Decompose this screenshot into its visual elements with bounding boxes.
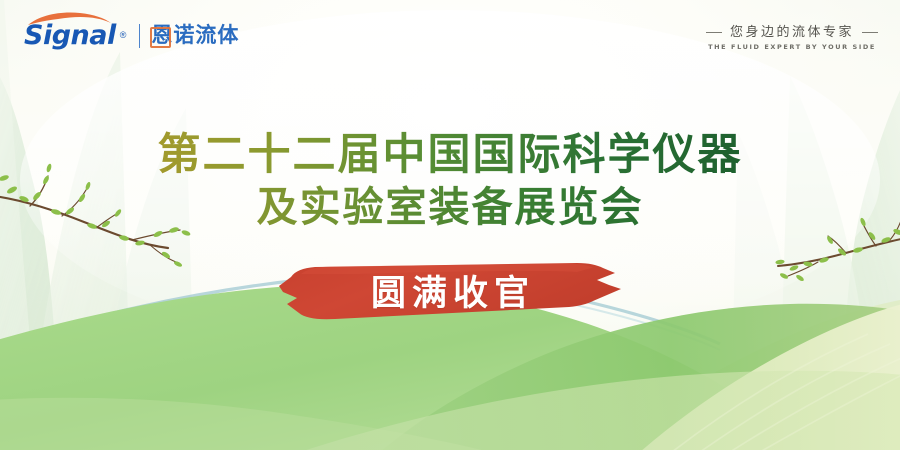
event-title: 第二十二届中国国际科学仪器 及实验室装备展览会 xyxy=(0,128,900,234)
registered-mark: ® xyxy=(120,30,127,40)
tagline-chinese: 您身边的流体专家 xyxy=(730,26,854,39)
logo-text: Signal xyxy=(24,20,116,51)
event-title-line1: 第二十二届中国国际科学仪器 xyxy=(0,128,900,182)
tagline-rule-right xyxy=(862,32,878,33)
status-ribbon: 圆满收官 xyxy=(277,258,623,326)
signal-wordmark: Signal® xyxy=(24,22,126,49)
event-title-line2: 及实验室装备展览会 xyxy=(0,182,900,234)
ribbon-label: 圆满收官 xyxy=(277,258,623,326)
logo-chinese-name: 恩诺流体 xyxy=(151,25,239,46)
banner-header: Signal® 恩诺流体 您身边的流体专家 THE FLUID EXPERT B… xyxy=(0,0,900,72)
brand-tagline: 您身边的流体专家 THE FLUID EXPERT BY YOUR SIDE xyxy=(706,26,878,51)
tagline-rule-left xyxy=(706,32,722,33)
tagline-english: THE FLUID EXPERT BY YOUR SIDE xyxy=(706,44,878,51)
logo-divider xyxy=(139,24,140,48)
brand-logo[interactable]: Signal® 恩诺流体 xyxy=(24,22,239,49)
exhibition-banner: Signal® 恩诺流体 您身边的流体专家 THE FLUID EXPERT B… xyxy=(0,0,900,450)
